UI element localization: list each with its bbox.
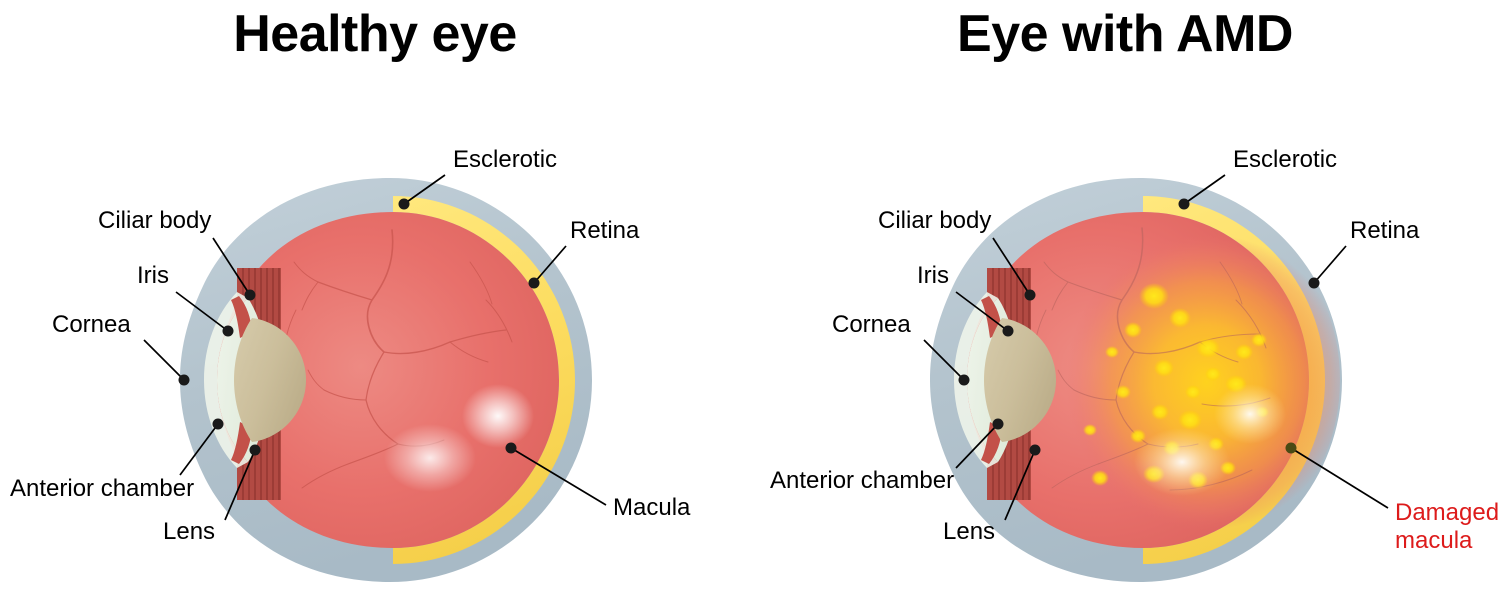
label-iris: Iris <box>137 262 169 289</box>
leader-retina <box>1309 246 1347 289</box>
label-macula: Macula <box>613 494 691 521</box>
label-damaged-macula-line1: Damaged <box>1395 499 1499 526</box>
label-lens: Lens <box>943 518 995 545</box>
fovea-halo <box>384 424 476 492</box>
panel-amd-eye: Eye with AMD <box>750 0 1500 597</box>
amd-eye-illustration: Esclerotic Retina Ciliar body Iris Corne… <box>750 0 1500 597</box>
label-esclerotic: Esclerotic <box>453 146 557 173</box>
label-cornea: Cornea <box>832 311 911 338</box>
label-cornea: Cornea <box>52 311 131 338</box>
label-retina: Retina <box>1350 217 1420 244</box>
panel-healthy-eye: Healthy eye <box>0 0 750 597</box>
label-anterior-chamber: Anterior chamber <box>10 475 194 502</box>
damaged-fovea-halo <box>1134 428 1230 496</box>
macula-bright-spot <box>462 384 534 448</box>
damaged-macula-pale-spot <box>1214 384 1286 444</box>
label-ciliar-body: Ciliar body <box>98 207 211 234</box>
label-iris: Iris <box>917 262 949 289</box>
healthy-eye-illustration: Esclerotic Retina Ciliar body Iris Corne… <box>0 0 750 597</box>
label-anterior-chamber: Anterior chamber <box>770 467 954 494</box>
label-esclerotic: Esclerotic <box>1233 146 1337 173</box>
label-lens: Lens <box>163 518 215 545</box>
label-ciliar-body: Ciliar body <box>878 207 991 234</box>
label-retina: Retina <box>570 217 640 244</box>
label-damaged-macula-line2: macula <box>1395 527 1473 554</box>
